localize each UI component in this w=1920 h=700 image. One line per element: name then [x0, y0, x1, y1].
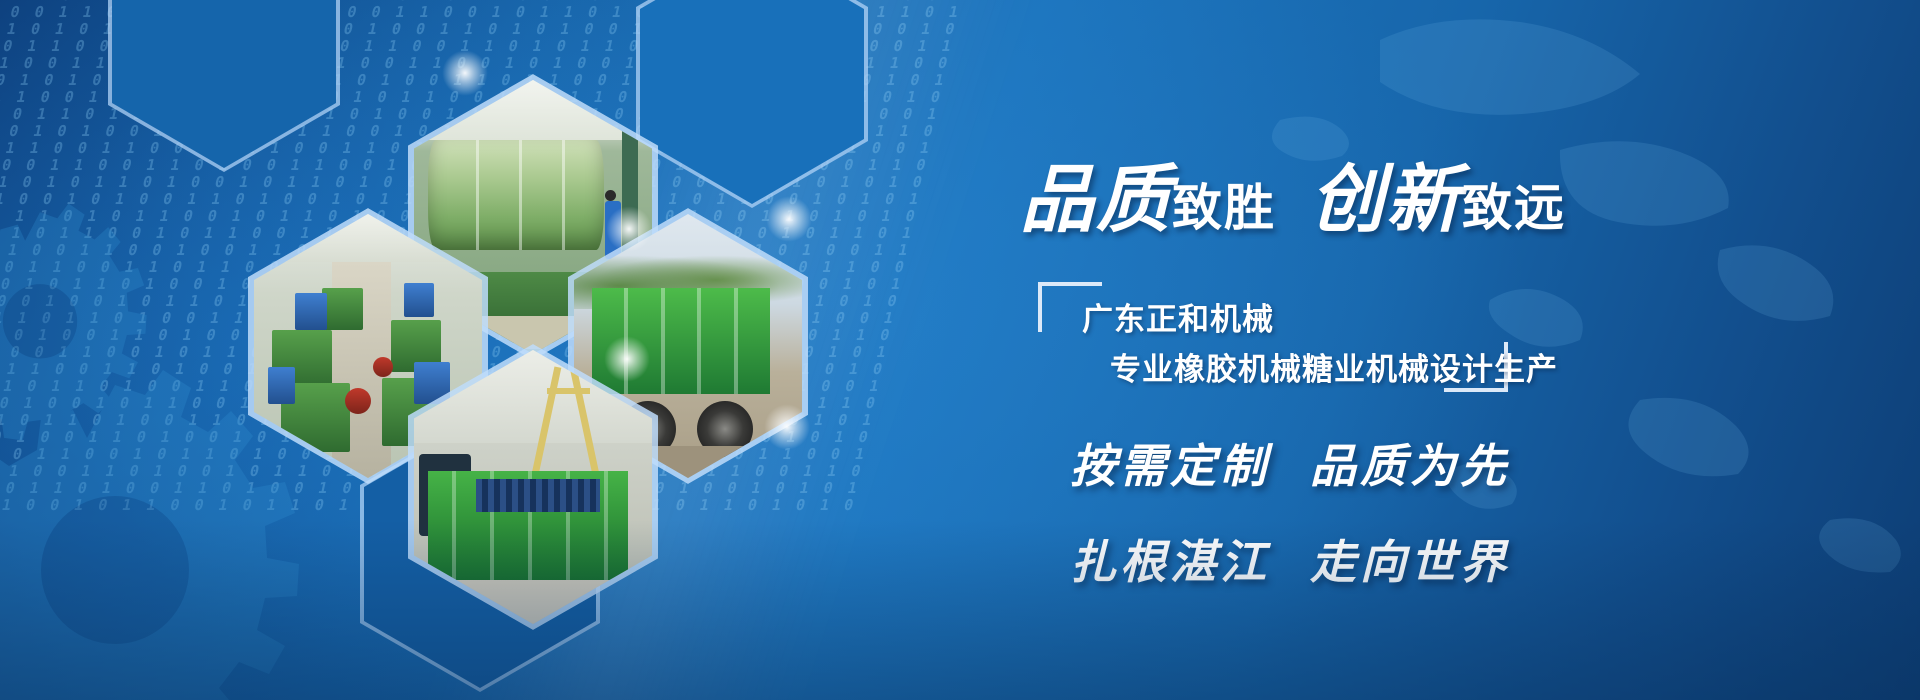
corner-glow: [766, 196, 812, 242]
company-banner: 0 1 0 0 1 1 0 1 0 0 1 0 1 1 0 0 1 0 1 0 …: [0, 0, 1920, 700]
corner-glow: [604, 336, 650, 382]
corner-glow: [606, 206, 652, 252]
corner-glow: [764, 404, 810, 450]
headline-part1-big: 品质: [1020, 157, 1172, 243]
headline: 品质致胜创新致远: [1020, 140, 1566, 247]
slogan-row-1: 按需定制品质为先: [1070, 430, 1510, 496]
slogan-1-right: 品质为先: [1310, 439, 1510, 493]
subtitle-line-2: 专业橡胶机械糖业机械设计生产: [1110, 344, 1558, 389]
subtitle-line-1: 广东正和机械: [1082, 294, 1274, 339]
corner-glow: [442, 50, 488, 96]
headline-part2-big: 创新: [1310, 157, 1462, 243]
hexagon-outline: [636, 0, 868, 208]
subtitle-block: 广东正和机械 专业橡胶机械糖业机械设计生产: [1038, 282, 1508, 392]
headline-part2-small: 致远: [1462, 179, 1566, 237]
hexagon-outline: [108, 0, 340, 172]
slogan-1-left: 按需定制: [1070, 439, 1270, 493]
headline-part1-small: 致胜: [1172, 179, 1276, 237]
bottom-vignette: [0, 520, 1920, 700]
